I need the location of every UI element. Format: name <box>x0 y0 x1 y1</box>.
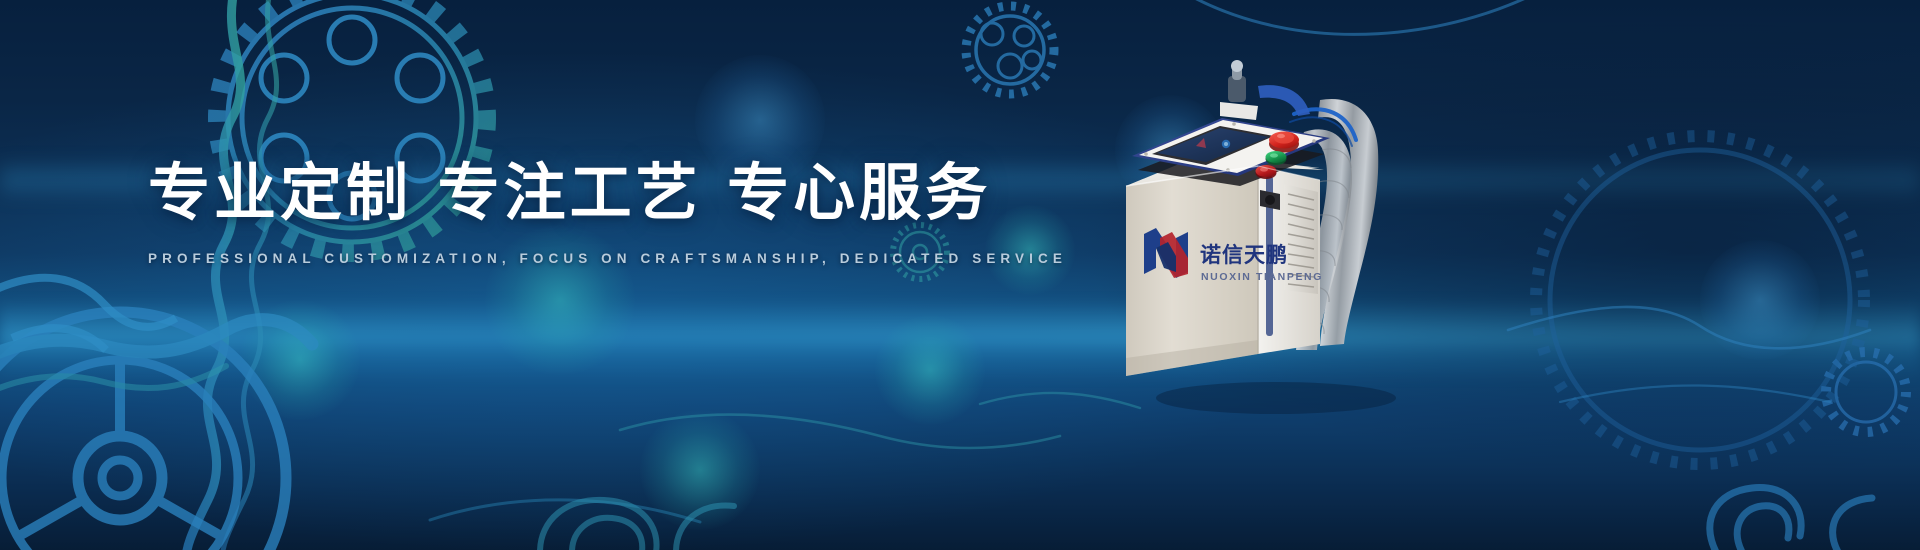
hero-banner: 专业定制 专注工艺 专心服务 PROFESSIONAL CUSTOMIZATIO… <box>0 0 1920 550</box>
brand-name-cn: 诺信天鹏 <box>1200 243 1288 267</box>
brand-name-en: NUOXIN TIANPENG <box>1201 271 1323 283</box>
decorative-gear-art <box>0 0 1920 550</box>
page-title: 专业定制 专注工艺 专心服务 <box>148 158 968 227</box>
gear-spoked-bottom-left <box>0 312 312 550</box>
gear-squiggle-bottom-center <box>540 500 734 550</box>
laser-head-accessory <box>1220 60 1310 120</box>
hero-copy: 专业定制 专注工艺 专心服务 PROFESSIONAL CUSTOMIZATIO… <box>148 158 968 266</box>
start-button[interactable] <box>1266 151 1287 165</box>
gear-small-top-right <box>966 6 1054 94</box>
gear-squiggle-bottom-right <box>1710 488 1872 550</box>
product-image-laser-welding-machine: 诺信天鹏 NUOXIN TIANPENG <box>1108 58 1438 418</box>
product-shadow <box>1156 382 1396 414</box>
emergency-stop-button[interactable] <box>1269 132 1299 153</box>
stop-button[interactable] <box>1256 165 1277 179</box>
gear-ring-far-right <box>1536 136 1864 464</box>
page-subtitle: PROFESSIONAL CUSTOMIZATION, FOCUS ON CRA… <box>148 251 968 266</box>
